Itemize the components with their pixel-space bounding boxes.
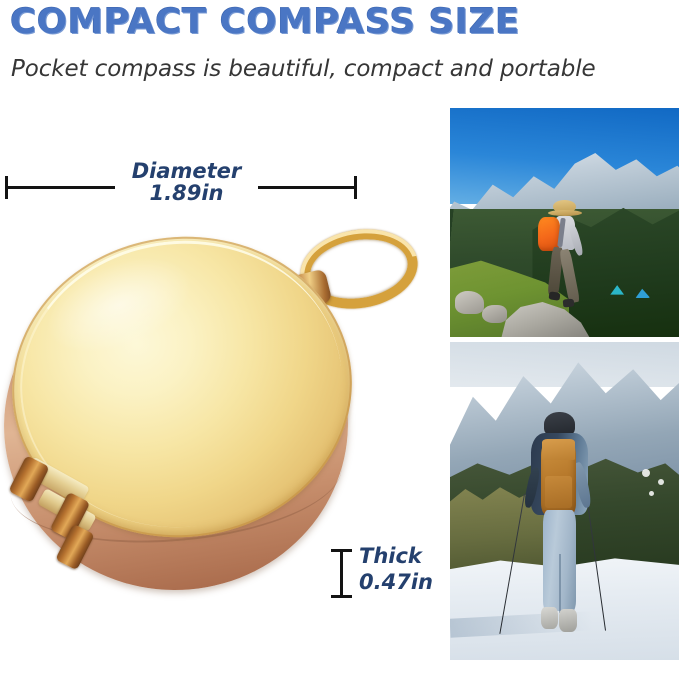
thickness-value-text: 0.47in	[359, 569, 433, 595]
photo2-hiker-boot-left	[541, 607, 557, 630]
photo1-hiker-leg-front	[559, 248, 580, 303]
thickness-label: Thick 0.47in	[359, 543, 433, 595]
photo1-rock-a	[455, 291, 485, 314]
diameter-label-text: Diameter	[119, 160, 254, 182]
photo1-hiker	[532, 200, 601, 333]
photo1-hiker-boot-front	[563, 298, 575, 307]
photo1-hiker-legs	[550, 247, 582, 305]
compass-product-image	[4, 225, 424, 685]
page-subtitle: Pocket compass is beautiful, compact and…	[11, 56, 596, 82]
photo2-backpack-pocket	[545, 476, 572, 508]
diameter-dimension: Diameter 1.89in	[5, 160, 357, 200]
photo2-jeans-seam	[559, 554, 561, 614]
thickness-cap-bottom-icon	[331, 595, 352, 598]
infographic-header: COMPACT COMPASS SIZE Pocket compass is b…	[0, 0, 679, 100]
photo1-hiker-boot-back	[549, 291, 561, 301]
photo-column	[450, 108, 679, 660]
photo-hiker-mountain	[450, 108, 679, 337]
photo1-rock-b	[482, 305, 507, 323]
diameter-value-text: 1.89in	[119, 182, 254, 204]
thickness-cap-top-icon	[331, 549, 352, 552]
product-panel: Diameter 1.89in Thick 0.47in	[0, 100, 440, 660]
photo-hiker-snow	[450, 342, 679, 660]
thickness-dimension: Thick 0.47in	[331, 543, 441, 613]
thickness-line	[340, 549, 343, 598]
photo2-backpack-flap	[542, 439, 575, 460]
thickness-label-text: Thick	[359, 543, 433, 569]
photo2-hiker	[516, 412, 608, 641]
diameter-label: Diameter 1.89in	[115, 160, 258, 204]
diameter-cap-right-icon	[354, 176, 357, 199]
diameter-cap-left-icon	[5, 176, 8, 199]
photo2-hiker-boot-right	[559, 609, 576, 632]
photo2-sky	[450, 342, 679, 387]
page-title: COMPACT COMPASS SIZE	[10, 2, 520, 42]
